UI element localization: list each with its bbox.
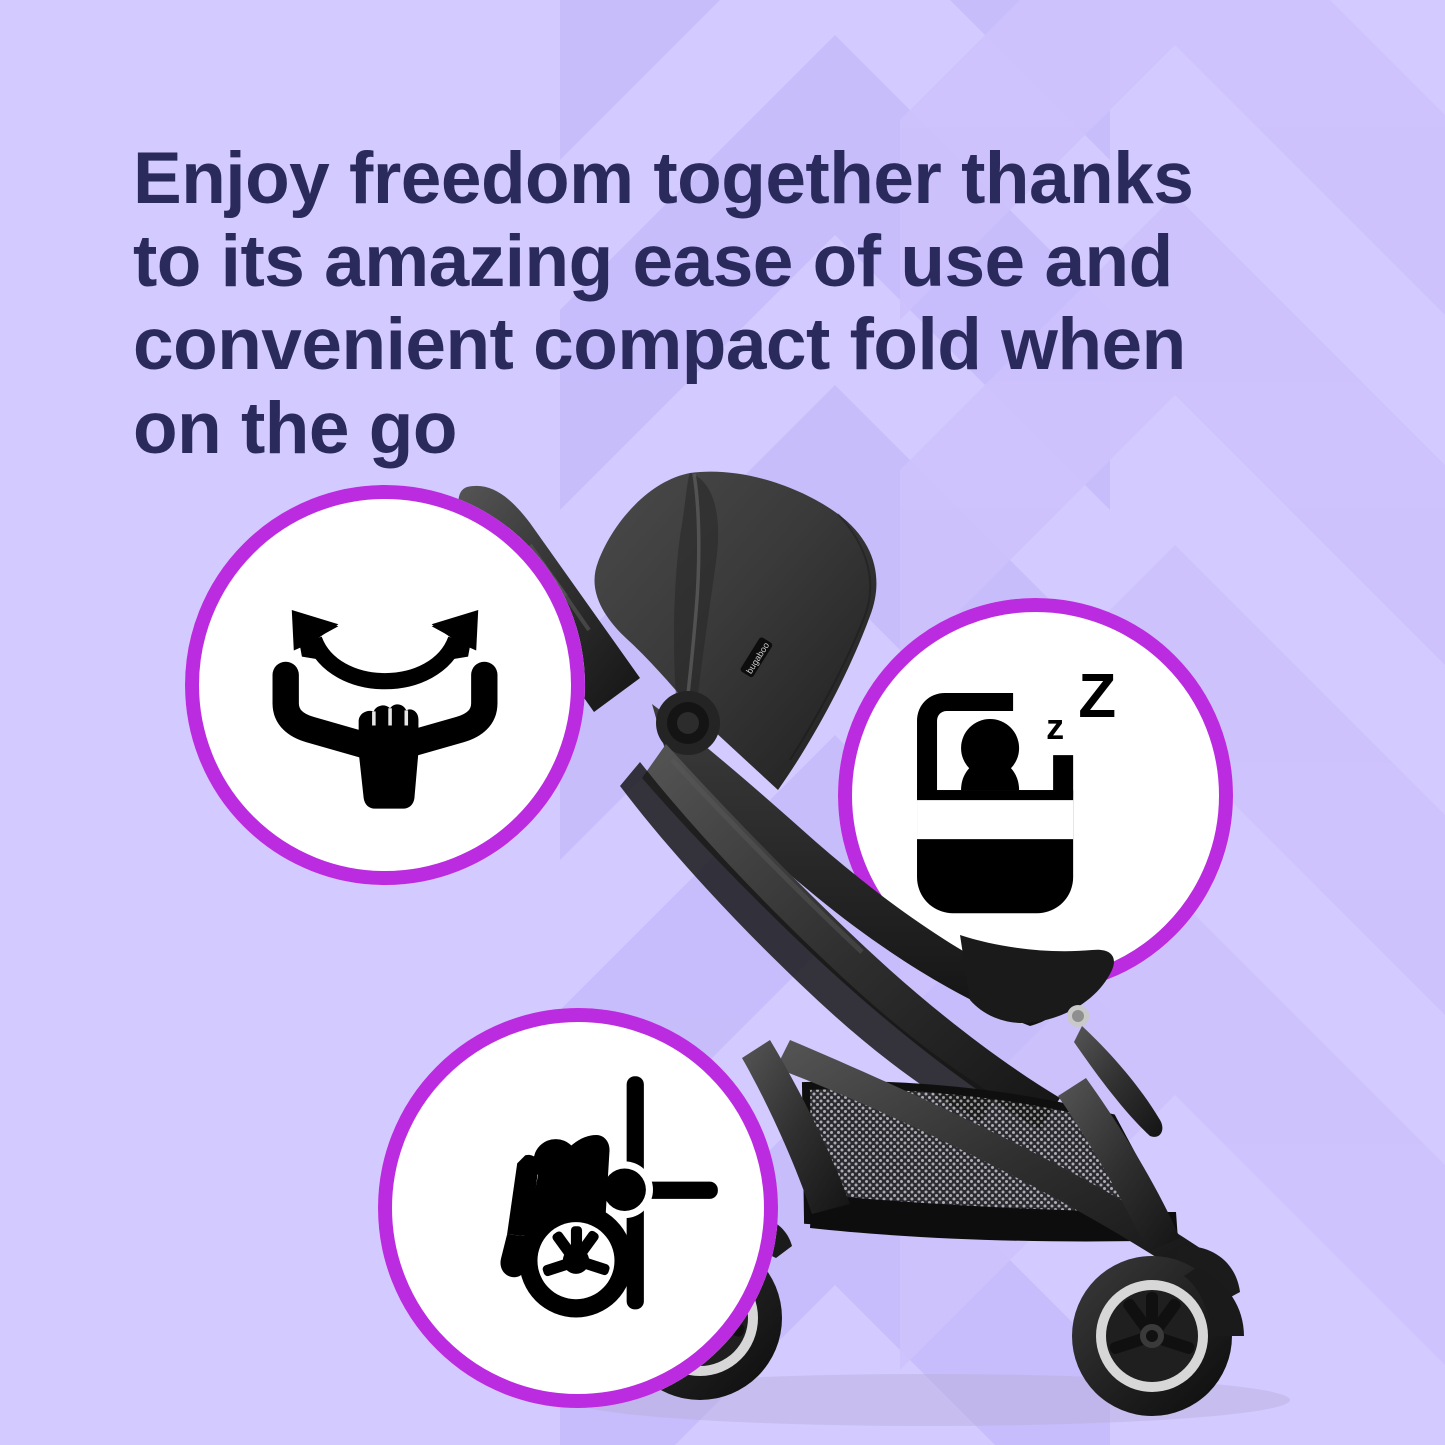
product-feature-poster: Enjoy freedom together thanks to its ama… (0, 0, 1445, 1445)
svg-text:Z: Z (1079, 662, 1117, 731)
svg-text:z: z (1047, 706, 1065, 747)
one-hand-steering-icon (233, 533, 537, 837)
folded-stroller-compact-icon (426, 1056, 730, 1360)
badge-comfortable-sleep: Z z (838, 598, 1233, 993)
badge-compact-fold (378, 1008, 778, 1408)
baby-sleeping-bassinet-zzz-icon: Z z (885, 645, 1185, 945)
headline: Enjoy freedom together thanks to its ama… (133, 137, 1223, 470)
badge-ease-of-use (185, 485, 585, 885)
